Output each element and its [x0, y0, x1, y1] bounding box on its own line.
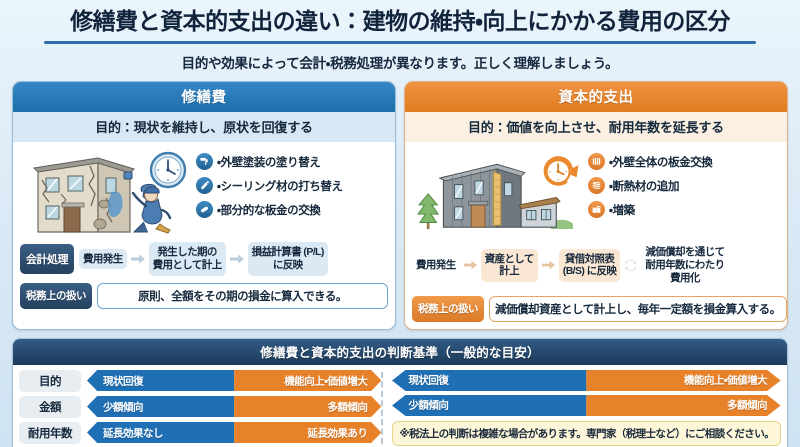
panel-capital-tax: 税務上の扱い 減価償却資産として計上し、毎年一定額を損金算入する。	[412, 296, 780, 322]
criteria-left-text: 延長効果なし	[103, 425, 163, 440]
criteria-heading: 修繕費と資本的支出の判断基準（一般的な目安）	[13, 339, 787, 365]
panel-capital-flow: 費用発生 資産として計上 貸借対照表(B/S) に反映	[412, 242, 780, 288]
accounting-treatment-tag: 会計処理	[20, 244, 74, 274]
sheet-metal-icon	[196, 201, 213, 218]
list-item: ・断熱材の追加	[588, 177, 780, 194]
flow-step: 損益計算書 (P/L)に反映	[248, 242, 328, 276]
panel-capital-purpose: 目的：価値を向上させ、耐用年数を延長する	[405, 112, 787, 142]
arrow-right-icon	[130, 253, 146, 265]
tax-treatment-tag: 税務上の扱い	[412, 296, 484, 322]
title-divider	[44, 41, 756, 44]
arrow-right-icon	[229, 253, 245, 265]
criteria-row: 少額傾向 多額傾向	[392, 395, 781, 416]
panel-repair-heading: 修繕費	[13, 82, 395, 112]
criteria-row-label: 金額	[19, 396, 81, 418]
criteria-column-right: 現状回復 機能向上・価値増大 少額傾向 多額傾向	[383, 370, 781, 446]
header: 修繕費と資本的支出の違い：建物の維持・向上にかかる費用の区分 目的や効果によって…	[0, 0, 800, 72]
arrow-right-icon	[463, 259, 478, 271]
criteria-column-left: 目的 現状回復 機能向上・価値増大 金額	[19, 370, 381, 446]
criteria-section: 修繕費と資本的支出の判断基準（一般的な目安） 目的 現状回復 機能向上・価値増大	[12, 338, 788, 447]
list-item-label: ・シーリング材の打ち替え	[217, 178, 343, 194]
flow-step: 減価償却を通じて耐用年数にわたり費用化	[641, 242, 728, 288]
criteria-row: 金額 少額傾向 多額傾向	[19, 396, 381, 418]
criteria-row-label: 目的	[19, 370, 81, 392]
list-item: ・増築	[588, 201, 780, 218]
flow-step: 発生した期の費用として計上	[149, 242, 226, 276]
list-item: ・外壁塗装の塗り替え	[196, 153, 388, 170]
panel-repair-bullets: ・外壁塗装の塗り替え ・シーリング材の打ち替え ・部分的な板金の交換	[196, 148, 388, 225]
list-item-label: ・外壁全体の板金交換	[609, 154, 712, 170]
list-item-label: ・増築	[609, 202, 635, 218]
panel-capital-heading: 資本的支出	[405, 82, 787, 112]
criteria-row: 目的 現状回復 機能向上・価値増大	[19, 370, 381, 392]
criteria-right-text: 多額傾向	[727, 398, 767, 413]
caulking-gun-icon	[196, 177, 213, 194]
criteria-right-text: 機能向上・価値増大	[684, 373, 767, 388]
list-item: ・シーリング材の打ち替え	[196, 177, 388, 194]
extension-icon	[588, 201, 605, 218]
comparison-panels: 修繕費 目的：現状を維持し、原状を回復する	[0, 72, 800, 329]
criteria-note: ※税法上の判断は複雑な場合があります。専門家（税理士など）にご相談ください。	[392, 421, 781, 446]
criteria-left-text: 少額傾向	[103, 399, 143, 414]
panel-repair-tax: 税務上の扱い 原則、全額をその期の損金に算入できる。	[20, 283, 388, 309]
modern-building-upgrade-illustration	[412, 148, 584, 236]
list-item: ・部分的な板金の交換	[196, 201, 388, 218]
page-title: 修繕費と資本的支出の違い：建物の維持・向上にかかる費用の区分	[14, 9, 786, 34]
list-item-label: ・部分的な板金の交換	[217, 202, 320, 218]
insulation-icon	[588, 177, 605, 194]
panel-repair-purpose: 目的：現状を維持し、原状を回復する	[13, 112, 395, 142]
list-item-label: ・外壁塗装の塗り替え	[217, 154, 320, 170]
criteria-left-text: 少額傾向	[408, 398, 448, 413]
panel-repair-flow: 会計処理 費用発生 発生した期の費用として計上 損益計算書 (P/L)に反映	[20, 242, 388, 276]
criteria-spectrum-bar: 少額傾向 多額傾向	[87, 396, 381, 417]
criteria-row: 現状回復 機能向上・価値増大	[392, 370, 781, 391]
criteria-row: 耐用年数 延長効果なし 延長効果あり	[19, 422, 381, 444]
criteria-left-text: 現状回復	[103, 373, 143, 388]
criteria-right-text: 機能向上・価値増大	[284, 373, 367, 388]
criteria-spectrum-bar: 少額傾向 多額傾向	[392, 395, 781, 416]
metal-siding-icon	[588, 153, 605, 170]
panel-repair: 修繕費 目的：現状を維持し、原状を回復する	[12, 81, 396, 329]
criteria-right-text: 多額傾向	[327, 399, 367, 414]
flow-step: 資産として計上	[481, 249, 538, 283]
paint-roller-icon	[196, 153, 213, 170]
arrow-right-icon	[541, 259, 556, 271]
cracked-building-repair-illustration	[20, 148, 192, 236]
criteria-row-label: 耐用年数	[19, 422, 81, 444]
criteria-left-text: 現状回復	[408, 373, 448, 388]
list-item: ・外壁全体の板金交換	[588, 153, 780, 170]
tax-treatment-text: 減価償却資産として計上し、毎年一定額を損金算入する。	[489, 296, 787, 322]
cycle-arrows-icon	[623, 258, 638, 273]
panel-capital-expenditure: 資本的支出 目的：価値を向上させ、耐用年数を延長する	[404, 81, 788, 329]
criteria-spectrum-bar: 延長効果なし 延長効果あり	[87, 422, 381, 443]
criteria-spectrum-bar: 現状回復 機能向上・価値増大	[392, 370, 781, 391]
flow-step: 費用発生	[79, 249, 127, 270]
panel-capital-bullets: ・外壁全体の板金交換 ・断熱材の追加 ・増築	[588, 148, 780, 225]
criteria-spectrum-bar: 現状回復 機能向上・価値増大	[87, 370, 381, 391]
page-subtitle: 目的や効果によって会計・税務処理が異なります。正しく理解しましょう。	[14, 52, 786, 72]
flow-step: 費用発生	[412, 255, 460, 276]
flow-step: 貸借対照表(B/S) に反映	[559, 249, 621, 283]
list-item-label: ・断熱材の追加	[609, 178, 679, 194]
tax-treatment-text: 原則、全額をその期の損金に算入できる。	[97, 283, 388, 309]
tax-treatment-tag: 税務上の扱い	[20, 283, 92, 309]
criteria-right-text: 延長効果あり	[307, 425, 367, 440]
